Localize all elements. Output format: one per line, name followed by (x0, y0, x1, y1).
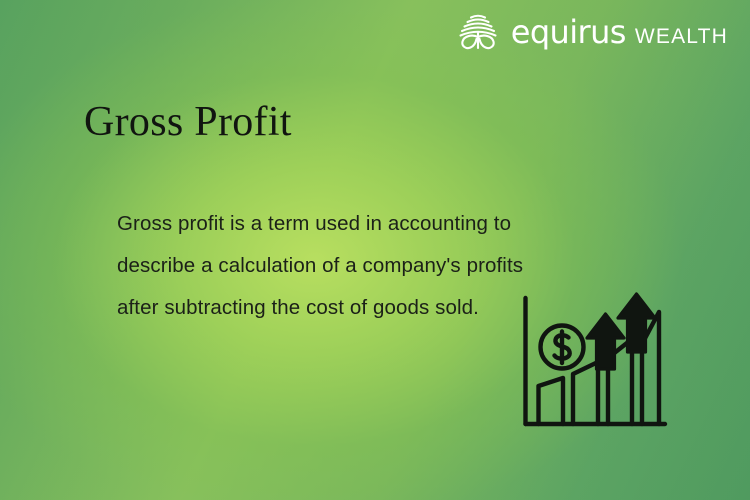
growth-bar-chart-icon (513, 286, 679, 441)
logo-primary-text: equirus (511, 16, 626, 48)
slide-canvas: equirus WEALTH Gross Profit Gross profit… (0, 0, 750, 500)
arrow-up-small (587, 314, 624, 369)
logo-secondary-text: WEALTH (635, 26, 728, 47)
page-title: Gross Profit (84, 99, 292, 145)
brand-logo: equirus WEALTH (455, 10, 728, 54)
chart-bar-1 (539, 378, 564, 424)
logo-wordmark: equirus WEALTH (511, 16, 728, 48)
definition-text: Gross profit is a term used in accountin… (117, 203, 547, 329)
equirus-tree-mark-icon (455, 10, 501, 54)
chart-bar-2 (573, 362, 598, 424)
